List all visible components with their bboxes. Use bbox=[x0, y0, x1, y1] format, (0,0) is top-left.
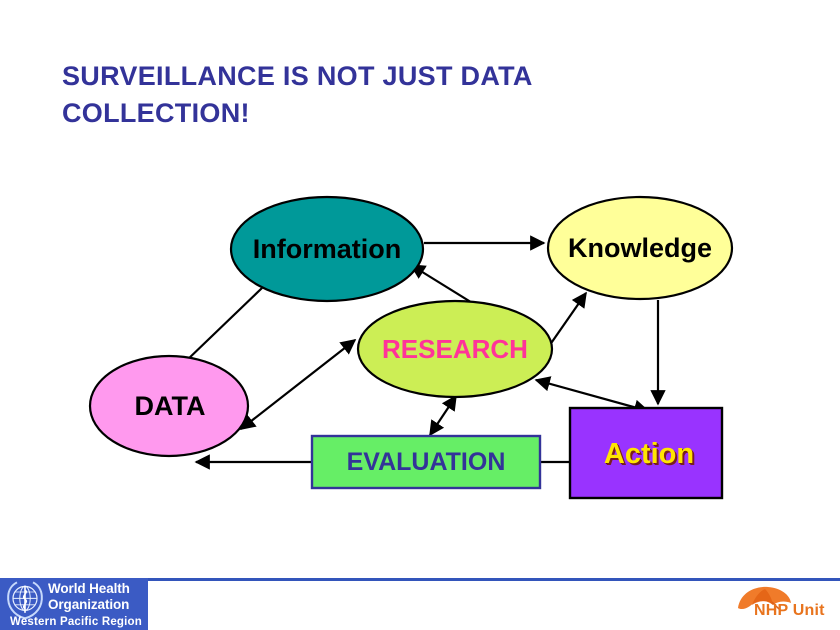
who-emblem-icon bbox=[5, 580, 45, 620]
who-wordmark: World Health Organization bbox=[48, 581, 146, 613]
node-evaluation[interactable] bbox=[312, 436, 540, 488]
node-research[interactable] bbox=[358, 301, 552, 397]
node-data[interactable] bbox=[90, 356, 248, 456]
node-knowledge[interactable] bbox=[548, 197, 732, 299]
who-region-label: Western Pacific Region bbox=[4, 616, 148, 628]
edge-research-evaluation bbox=[430, 396, 456, 435]
who-logo: World Health Organization Western Pacifi… bbox=[0, 578, 148, 630]
node-information[interactable] bbox=[231, 197, 423, 301]
node-action[interactable] bbox=[570, 408, 722, 498]
surveillance-cycle-diagram: Information Knowledge RESEARCH DATA EVAL… bbox=[0, 0, 840, 630]
diagram-canvas bbox=[0, 0, 840, 630]
footer-divider bbox=[148, 578, 840, 581]
edge-research-action bbox=[536, 380, 648, 411]
edge-data-research bbox=[241, 340, 355, 429]
nhp-unit-label: NHP Unit bbox=[754, 602, 825, 620]
nhp-unit-logo: NHP Unit bbox=[728, 585, 836, 629]
edge-data-information bbox=[185, 288, 262, 362]
